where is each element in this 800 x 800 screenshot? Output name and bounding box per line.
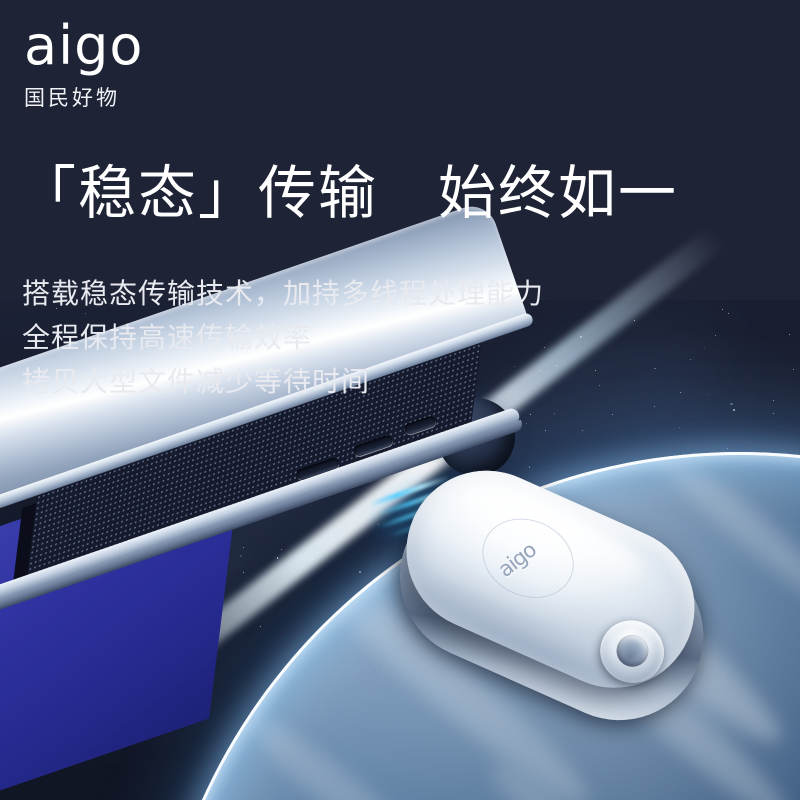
star (715, 335, 716, 336)
star (680, 392, 681, 393)
star (793, 369, 794, 370)
aigo-logo-icon: aigo (24, 18, 143, 74)
page-title: 「稳态」传输 始终如一 (18, 158, 678, 228)
body-line: 拷贝大型文件减少等待时间 (22, 360, 544, 404)
star (654, 368, 655, 369)
body-copy: 搭载稳态传输技术，加持多线程处理能力 全程保持高速传输效率 拷贝大型文件减少等待… (22, 272, 544, 404)
body-line: 全程保持高速传输效率 (22, 316, 544, 360)
brand-logo: aigo 国民好物 (24, 18, 143, 112)
body-line: 搭载稳态传输技术，加持多线程处理能力 (22, 272, 544, 316)
star (728, 313, 729, 314)
star (654, 406, 655, 407)
star (773, 413, 774, 414)
star (679, 427, 680, 428)
star (733, 409, 735, 411)
brand-tagline: 国民好物 (24, 82, 143, 112)
star (789, 334, 790, 335)
star (730, 403, 732, 405)
star (727, 448, 728, 449)
star (707, 394, 708, 395)
star (722, 309, 723, 310)
star (773, 400, 774, 401)
product-ad-poster: aigo aigo 国民好物 「稳态」传输 始终如一 搭载稳态传输技术，加持多线… (0, 0, 800, 800)
star (634, 320, 635, 321)
